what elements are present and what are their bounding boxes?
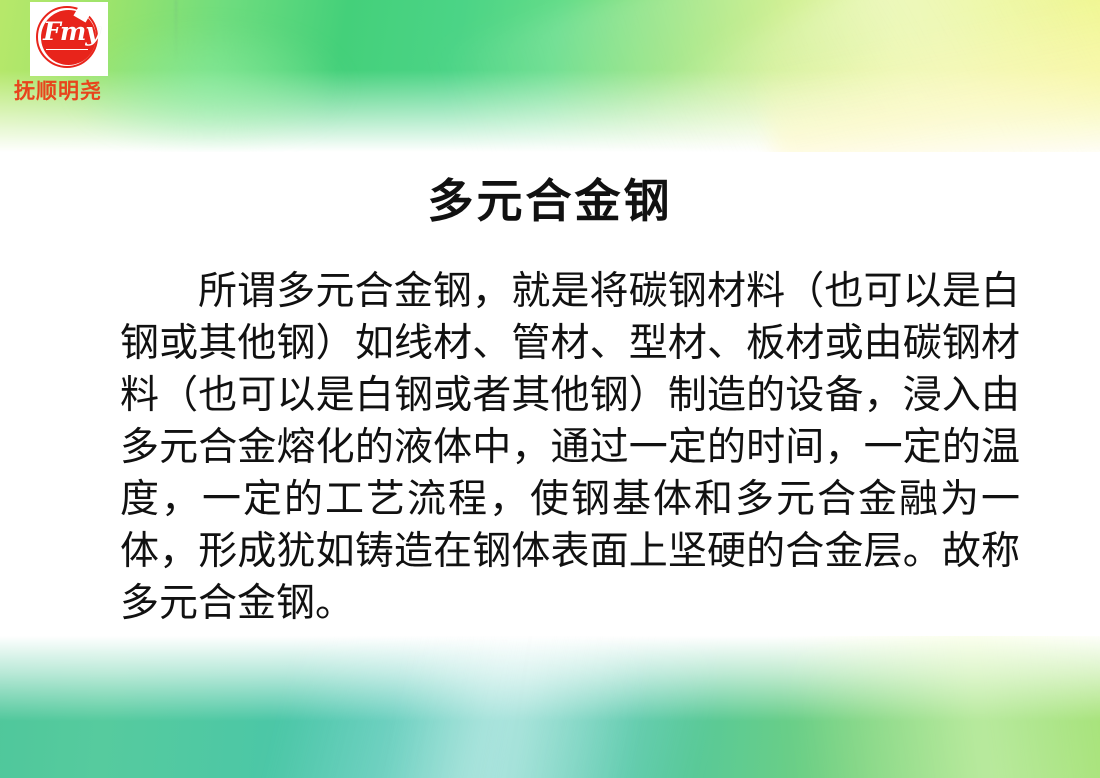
fmy-logo-icon: Fmy [30, 2, 108, 76]
slide-body-paragraph: 所谓多元合金钢，就是将碳钢材料（也可以是白钢或其他钢）如线材、管材、型材、板材或… [120, 266, 1020, 630]
logo-wordmark-text: Fmy [43, 19, 99, 45]
slide-content: 多元合金钢 所谓多元合金钢，就是将碳钢材料（也可以是白钢或其他钢）如线材、管材、… [0, 0, 1100, 778]
logo-underline-rule [46, 49, 88, 50]
presentation-slide: Fmy 抚顺明尧 多元合金钢 所谓多元合金钢，就是将碳钢材料（也可以是白钢或其他… [0, 0, 1100, 778]
slide-title: 多元合金钢 [0, 165, 1100, 231]
brand-logo-block: Fmy 抚顺明尧 [14, 2, 144, 104]
company-name-label: 抚顺明尧 [14, 78, 144, 104]
